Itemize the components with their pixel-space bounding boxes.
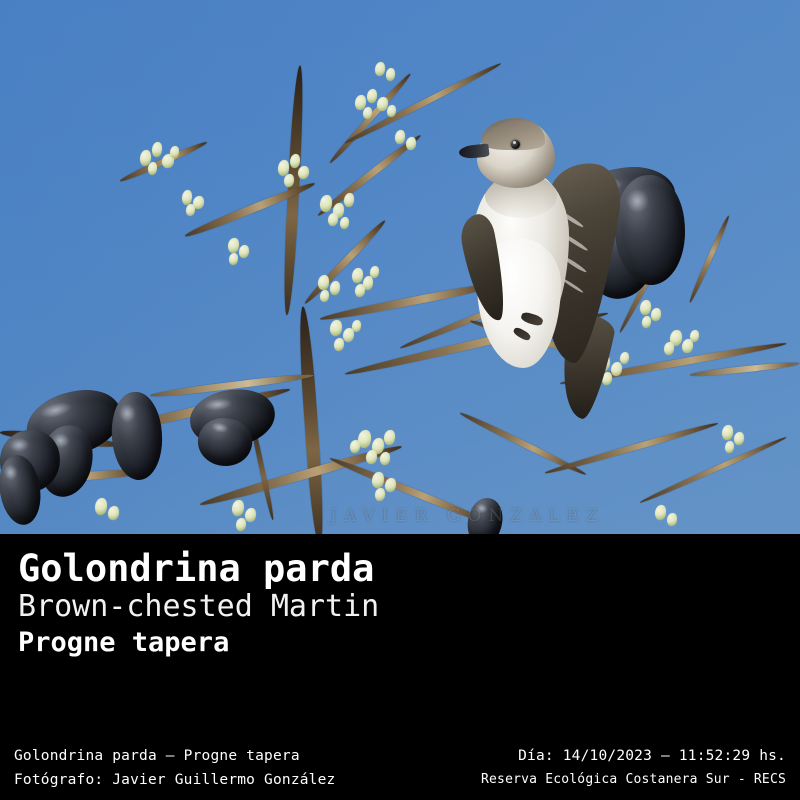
common-name-spanish: Golondrina parda — [18, 548, 379, 589]
species-title-bar: Golondrina parda Brown-chested Martin Pr… — [0, 534, 800, 730]
bird-eye — [511, 140, 520, 149]
footer-left: Golondrina parda — Progne tapera Fotógra… — [14, 745, 335, 793]
footer-species-line: Golondrina parda — Progne tapera — [14, 745, 335, 769]
footer-location-line: Reserva Ecológica Costanera Sur - RECS — [481, 769, 786, 790]
bird-photograph: JAVIER GONZALEZ — [0, 0, 800, 534]
footer-datetime-line: Día: 14/10/2023 — 11:52:29 hs. — [481, 745, 786, 769]
scientific-name: Progne tapera — [18, 626, 379, 660]
brown-chested-martin-bird — [455, 118, 625, 378]
footer-photographer-line: Fotógrafo: Javier Guillermo González — [14, 769, 335, 793]
species-titles: Golondrina parda Brown-chested Martin Pr… — [18, 548, 379, 660]
footer-bar: Golondrina parda — Progne tapera Fotógra… — [0, 730, 800, 800]
photo-card: JAVIER GONZALEZ Golondrina parda Brown-c… — [0, 0, 800, 800]
common-name-english: Brown-chested Martin — [18, 589, 379, 626]
footer-right: Día: 14/10/2023 — 11:52:29 hs. Reserva E… — [481, 745, 786, 790]
